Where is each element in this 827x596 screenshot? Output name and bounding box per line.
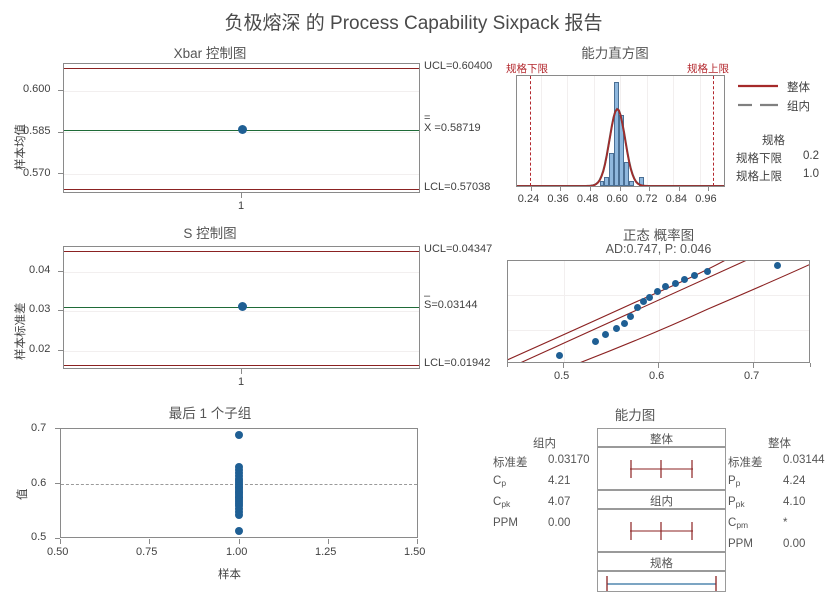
xbar-ucl-label: UCL=0.60400 (424, 60, 492, 72)
capability-row-header-overall: 整体 (597, 428, 726, 447)
capability-spec-label: 规格 (598, 555, 725, 571)
within-interval-marks (598, 510, 725, 551)
histogram-x-tick-label: 0.60 (607, 193, 628, 205)
capability-plot-title: 能力图 (510, 404, 760, 424)
xbar-plot-frame (63, 63, 420, 193)
s-center-value: S=0.03144 (424, 299, 478, 311)
stat-label: Ppk (728, 496, 745, 508)
capability-plot-panel: 能力图 组内 标准差0.03170Cp4.21Cpk4.07PPM0.00 整体… (480, 400, 827, 592)
stat-label: Cpm (728, 517, 748, 529)
stat-label: Pp (728, 475, 740, 487)
probability-dot (681, 276, 688, 283)
last-subgroup-ytick-1: 0.6 (31, 477, 46, 489)
last-subgroup-xtick-3: 1.25 (315, 546, 336, 558)
last-subgroup-ytick-2: 0.5 (31, 531, 46, 543)
probability-plot-panel: 正态 概率图 AD:0.747, P: 0.046 0.5 0.6 0.7 (490, 222, 827, 392)
spec-interval-marks (598, 572, 725, 591)
stat-label: Cpk (493, 496, 510, 508)
last-subgroup-y-label: 值 (14, 489, 30, 501)
histogram-x-tick (649, 187, 650, 191)
stat-label: Cp (493, 475, 506, 487)
histogram-plot-frame (516, 75, 725, 187)
legend-label-within: 组内 (787, 98, 810, 114)
last-subgroup-dot (235, 527, 243, 535)
stat-label: PPM (493, 517, 518, 529)
probability-plot-subtitle: AD:0.747, P: 0.046 (490, 242, 827, 256)
probability-dot (646, 294, 653, 301)
legend-label-overall: 整体 (787, 79, 810, 95)
last-subgroup-ytick-0: 0.7 (31, 422, 46, 434)
capability-row-plot-spec (597, 571, 726, 592)
last-subgroup-title: 最后 1 个子组 (0, 402, 420, 422)
probability-dot (592, 338, 599, 345)
probability-dot (672, 280, 679, 287)
lsl-line (530, 76, 531, 186)
xbar-ytick-1: 0.585 (23, 125, 51, 137)
capability-within-label: 组内 (598, 493, 725, 509)
stat-value: 0.03144 (783, 454, 825, 466)
spec-usl-value: 1.0 (803, 168, 819, 180)
capability-row-plot-within (597, 509, 726, 552)
page-title: 负极熔深 的 Process Capability Sixpack 报告 (0, 8, 827, 35)
histogram-x-tick (679, 187, 680, 191)
legend-swatches (736, 79, 782, 119)
s-ucl-line (64, 251, 419, 252)
probability-data-points (508, 261, 809, 362)
capability-row-plot-overall (597, 447, 726, 490)
last-subgroup-xtick-1: 0.75 (136, 546, 157, 558)
probability-dot (634, 304, 641, 311)
probability-dot (602, 331, 609, 338)
s-ytick-0: 0.04 (29, 264, 50, 276)
capability-row-header-within: 组内 (597, 490, 726, 509)
last-subgroup-xtick-4: 1.50 (404, 546, 425, 558)
probability-dot (691, 272, 698, 279)
s-lcl-line (64, 365, 419, 366)
s-chart-panel: S 控制图 样本标准差 0.04 0.03 0.02 1 UCL=0.04347… (0, 220, 500, 395)
stat-value: 0.03170 (548, 454, 590, 466)
probability-dot (774, 262, 781, 269)
capability-histogram-title: 能力直方图 (490, 42, 740, 62)
s-ytick-1: 0.03 (29, 303, 50, 315)
histogram-x-tick (708, 187, 709, 191)
histogram-x-tick (590, 187, 591, 191)
last-subgroup-x-label: 样本 (218, 566, 241, 582)
last-subgroup-dots (61, 429, 417, 537)
s-center-label: – S=0.03144 (424, 299, 478, 311)
histogram-x-tick-label: 0.96 (695, 193, 716, 205)
lsl-label: 规格下限 (506, 61, 548, 76)
histogram-x-tick-label: 0.24 (518, 193, 539, 205)
probability-dot (627, 313, 634, 320)
stat-value: 4.07 (548, 496, 570, 508)
spec-table-title: 规格 (762, 132, 785, 148)
s-ytick-2: 0.02 (29, 343, 50, 355)
spec-usl-label: 规格上限 (736, 168, 782, 184)
usl-label: 规格上限 (687, 61, 729, 76)
xbar-chart-title: Xbar 控制图 (0, 42, 420, 62)
xbar-ytick-2: 0.570 (23, 167, 51, 179)
histogram-x-tick-label: 0.84 (666, 193, 687, 205)
last-subgroup-dot (235, 431, 243, 439)
usl-line (713, 76, 714, 186)
s-chart-title: S 控制图 (0, 222, 420, 242)
probability-dot (613, 325, 620, 332)
xbar-center-label: = X =0.58719 (424, 122, 481, 134)
capability-overall-label: 整体 (598, 431, 725, 447)
histogram-x-tick-label: 0.72 (636, 193, 657, 205)
probability-dot (556, 352, 563, 359)
xbar-center-value: X =0.58719 (424, 122, 481, 134)
histogram-x-tick (620, 187, 621, 191)
s-xtick-0: 1 (238, 376, 244, 388)
stat-value: * (783, 517, 787, 529)
s-lcl-label: LCL=0.01942 (424, 357, 490, 369)
xbar-xtick-0: 1 (238, 200, 244, 212)
within-stats-header: 组内 (533, 435, 556, 451)
s-data-point (238, 302, 247, 311)
stat-label: 标准差 (728, 454, 763, 470)
histogram-x-tick (531, 187, 532, 191)
probability-dot (662, 283, 669, 290)
histogram-x-tick-label: 0.36 (547, 193, 568, 205)
s-plot-frame (63, 246, 420, 369)
probability-dot (704, 268, 711, 275)
stat-value: 4.24 (783, 475, 805, 487)
xbar-data-point (238, 125, 247, 134)
probability-plot-frame (507, 260, 810, 363)
histogram-x-tick (560, 187, 561, 191)
xbar-lcl-line (64, 189, 419, 190)
probability-xtick-0: 0.5 (554, 370, 569, 382)
histogram-x-tick-label: 0.48 (577, 193, 598, 205)
last-subgroup-xtick-0: 0.50 (47, 546, 68, 558)
xbar-chart-panel: Xbar 控制图 样本均值 0.600 0.585 0.570 1 UCL=0.… (0, 40, 500, 220)
last-subgroup-plot-frame (60, 428, 418, 538)
spec-lsl-value: 0.2 (803, 150, 819, 162)
capability-histogram-panel: 能力直方图 规格下限 规格上限 0.240.360.480.600.720.84… (490, 40, 827, 220)
spec-lsl-label: 规格下限 (736, 150, 782, 166)
probability-xtick-1: 0.6 (649, 370, 664, 382)
stat-label: 标准差 (493, 454, 528, 470)
xbar-lcl-label: LCL=0.57038 (424, 181, 490, 193)
stat-value: 4.21 (548, 475, 570, 487)
probability-dot (621, 320, 628, 327)
stat-label: PPM (728, 538, 753, 550)
overall-interval-marks (598, 448, 725, 489)
xbar-ytick-0: 0.600 (23, 83, 51, 95)
probability-xtick-2: 0.7 (744, 370, 759, 382)
capability-row-header-spec: 规格 (597, 552, 726, 571)
stat-value: 0.00 (783, 538, 805, 550)
stat-value: 4.10 (783, 496, 805, 508)
last-subgroup-panel: 最后 1 个子组 值 0.7 0.6 0.5 0.50 0.75 1.00 1.… (0, 398, 470, 592)
xbar-ucl-line (64, 68, 419, 69)
probability-plot-title: 正态 概率图 (490, 224, 827, 244)
stat-value: 0.00 (548, 517, 570, 529)
last-subgroup-xtick-2: 1.00 (226, 546, 247, 558)
s-y-axis-label: 样本标准差 (12, 303, 28, 361)
histogram-curves (517, 76, 725, 187)
s-ucl-label: UCL=0.04347 (424, 243, 492, 255)
overall-stats-header: 整体 (768, 435, 791, 451)
probability-dot (654, 288, 661, 295)
last-subgroup-dot (235, 463, 243, 471)
